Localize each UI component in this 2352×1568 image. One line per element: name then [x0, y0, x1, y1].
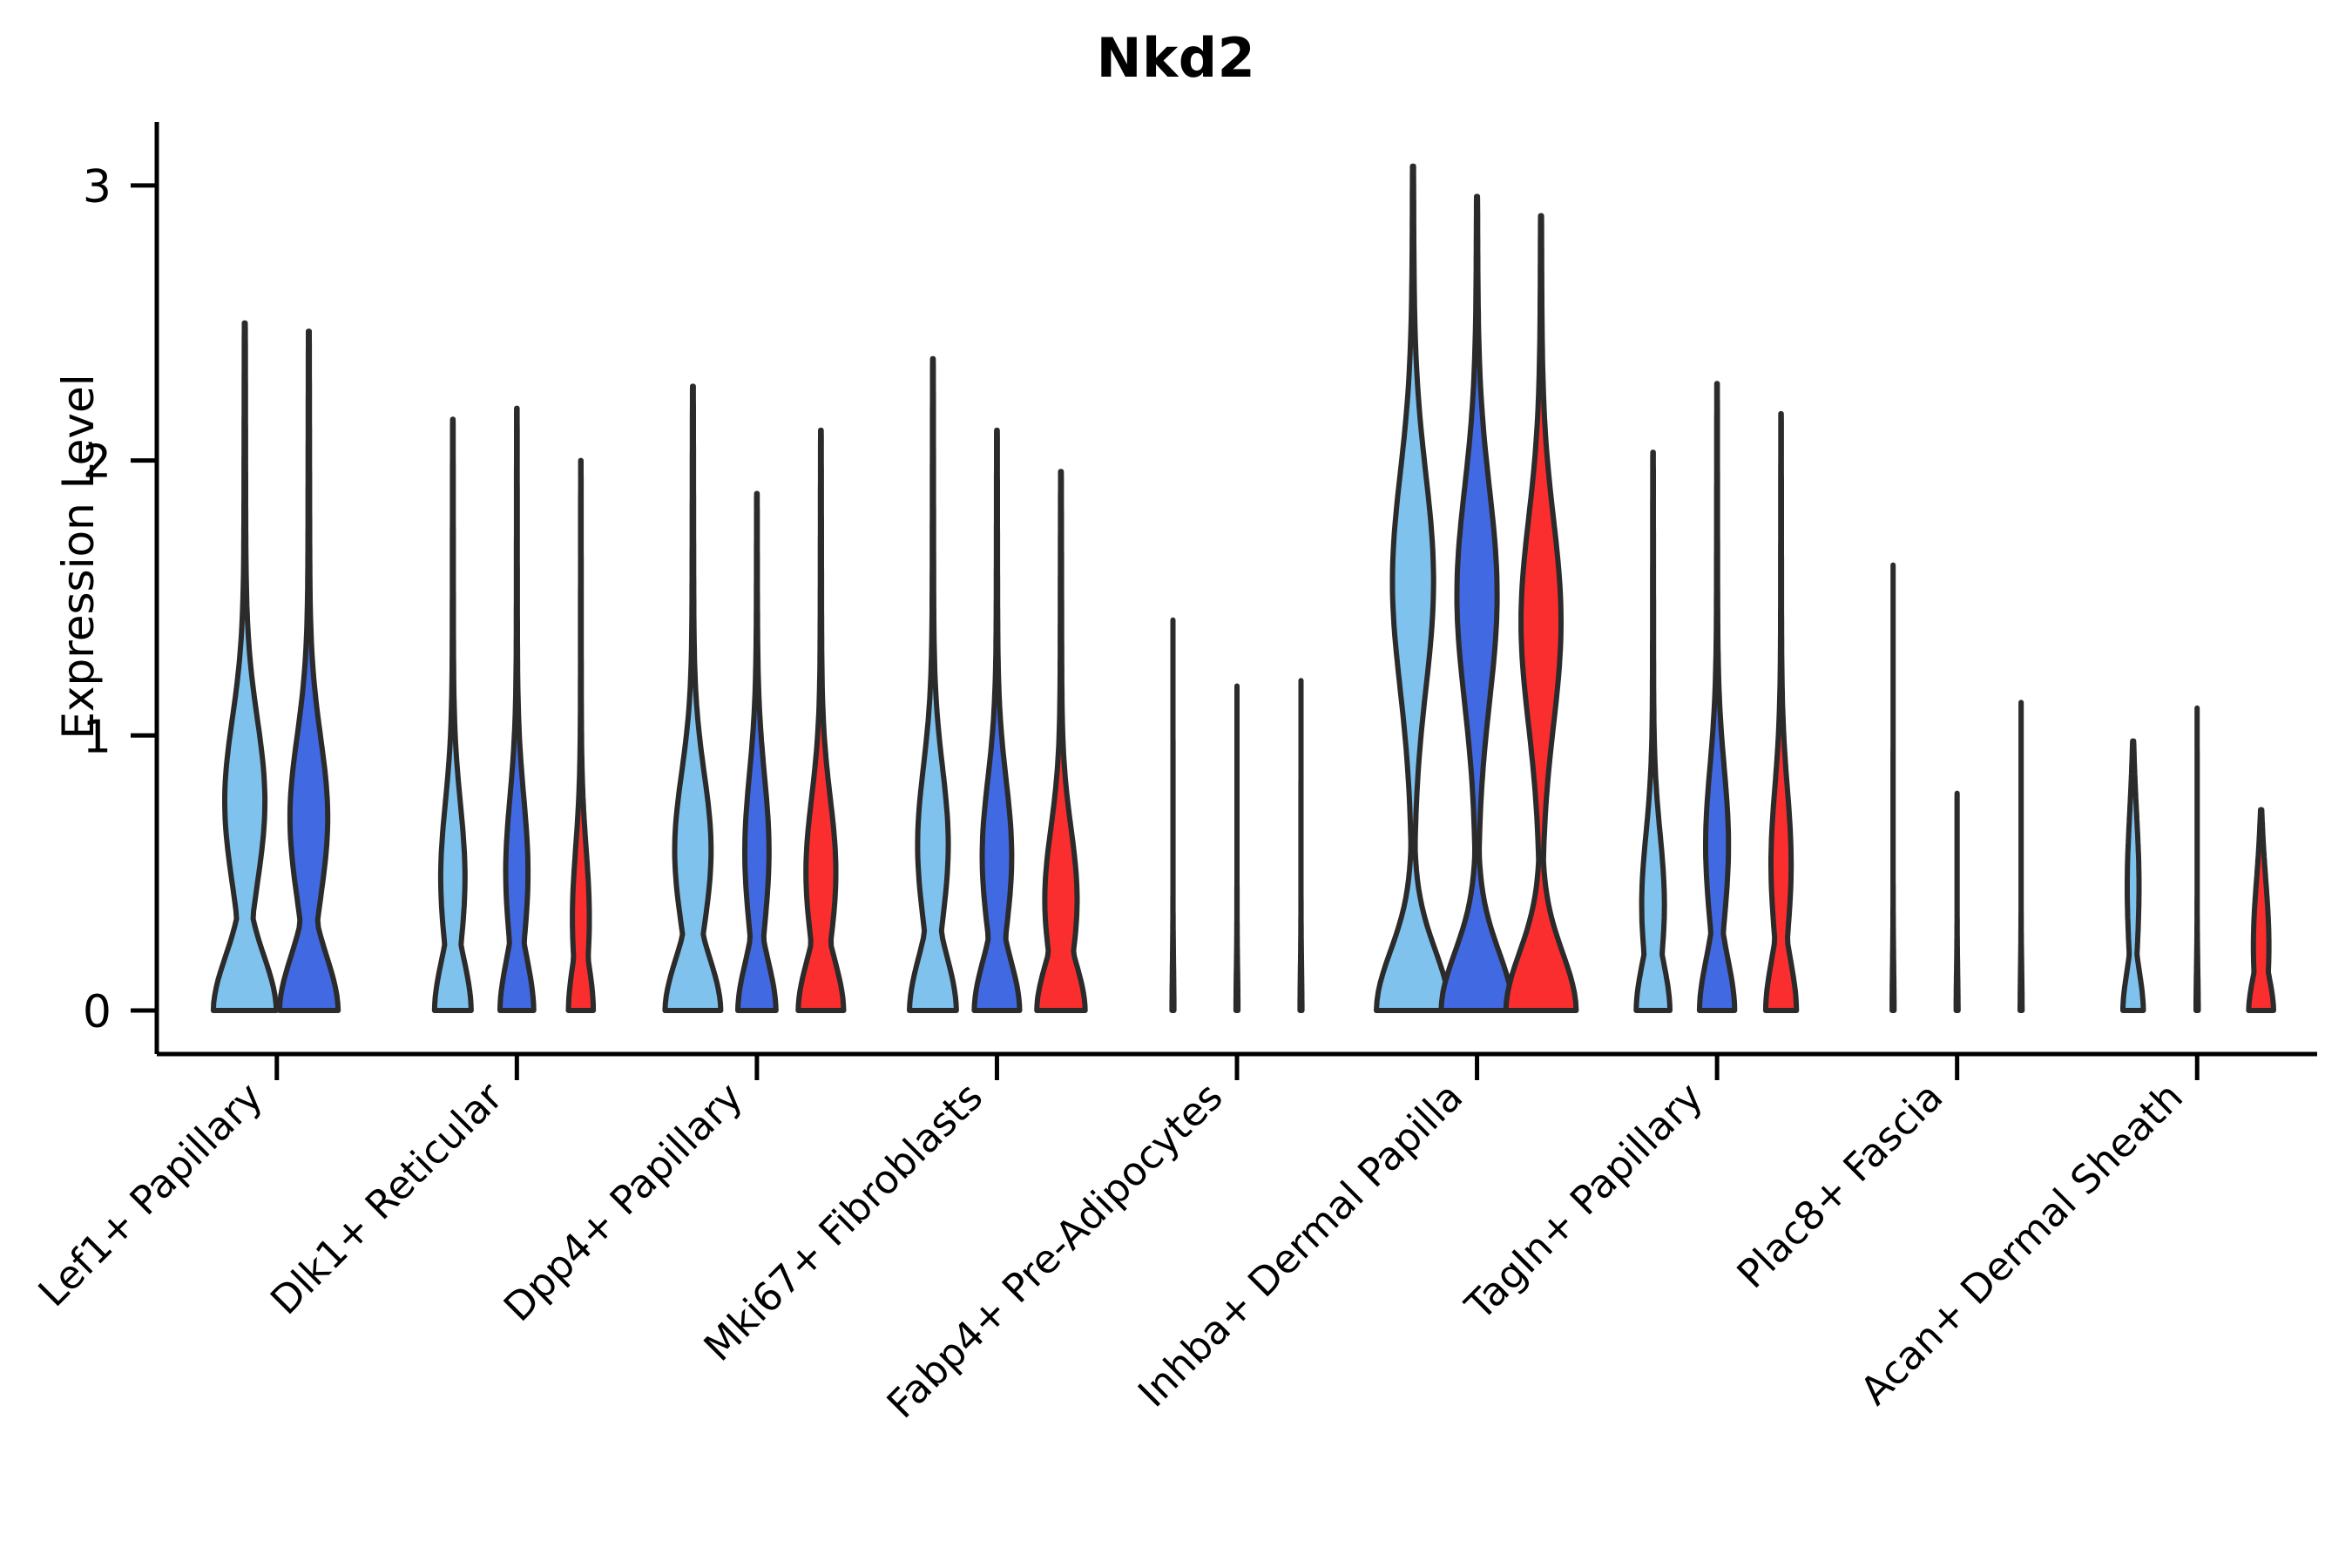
violin-tagin-papillary-light_blue: [1636, 452, 1670, 1010]
violin-dlk1-reticular-red: [569, 461, 594, 1010]
violin-acan-dermal-sheath-blue: [2196, 708, 2199, 1010]
y-tick-label: 1: [83, 711, 112, 763]
x-tick-label: Dpp4+ Papillary: [495, 1073, 752, 1330]
violin-plac8-fascia-blue: [1957, 794, 1958, 1010]
x-tick-label: Lef1+ Papillary: [30, 1073, 272, 1315]
violin-series-group: [213, 166, 2274, 1010]
violin-mki67-fibroblasts-blue: [974, 430, 1019, 1010]
violin-plac8-fascia-red: [2020, 702, 2022, 1010]
x-tick-label: Dlk1+ Reticular: [261, 1073, 511, 1323]
x-axis-tick-labels: Lef1+ PapillaryDlk1+ ReticularDpp4+ Papi…: [30, 1073, 2192, 1427]
y-tick-label: 3: [83, 161, 112, 213]
y-axis-ticks: 0123: [83, 161, 157, 1038]
x-tick-label: Plac8+ Fascia: [1728, 1073, 1952, 1297]
violin-mki67-fibroblasts-red: [1037, 471, 1085, 1010]
y-tick-label: 0: [83, 986, 112, 1038]
y-tick-label: 2: [83, 436, 112, 489]
violin-lef1-papillary-light_blue: [213, 323, 276, 1010]
violin-fabp4-pre-adipocytes-blue: [1236, 686, 1238, 1011]
violin-dpp4-papillary-light_blue: [665, 386, 720, 1010]
violin-tagin-papillary-red: [1766, 414, 1796, 1010]
violin-inhba-dermal-papilla-light_blue: [1376, 166, 1450, 1010]
plot-canvas: 0123 Lef1+ PapillaryDlk1+ ReticularDpp4+…: [0, 0, 2352, 1568]
violin-plot-figure: Nkd2 Expression Level 0123 Lef1+ Papilla…: [0, 0, 2352, 1568]
x-axis-ticks: [277, 1054, 2197, 1080]
violin-dlk1-reticular-light_blue: [435, 419, 471, 1010]
violin-inhba-dermal-papilla-blue: [1441, 197, 1513, 1011]
violin-dlk1-reticular-blue: [500, 409, 534, 1010]
violin-fabp4-pre-adipocytes-light_blue: [1172, 620, 1173, 1010]
violin-mki67-fibroblasts-light_blue: [909, 359, 956, 1010]
violin-lef1-papillary-blue: [280, 331, 338, 1010]
violin-acan-dermal-sheath-red: [2248, 810, 2274, 1011]
violin-plac8-fascia-light_blue: [1892, 565, 1894, 1010]
violin-tagin-papillary-blue: [1700, 383, 1734, 1010]
violin-dpp4-papillary-red: [798, 430, 843, 1010]
violin-fabp4-pre-adipocytes-red: [1300, 680, 1301, 1010]
violin-acan-dermal-sheath-light_blue: [2123, 741, 2144, 1010]
x-tick-label: TagIn+ Papillary: [1456, 1073, 1712, 1329]
violin-inhba-dermal-papilla-red: [1506, 216, 1577, 1010]
violin-dpp4-papillary-blue: [738, 494, 776, 1011]
